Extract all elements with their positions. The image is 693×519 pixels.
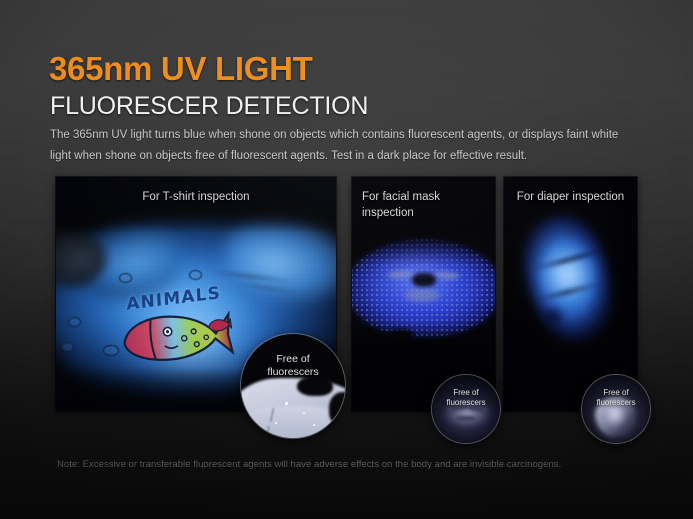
inset-label-line-1: Free of [241, 353, 345, 366]
tshirt-snap-button [189, 270, 202, 280]
inset-speck [303, 412, 305, 414]
footer-note: Note: Excessive or transferable fluoresc… [57, 459, 561, 470]
inset-free-of-fluorescers-mask: Free of fluorescers [432, 375, 500, 443]
inset-speck [285, 402, 288, 405]
panel-top-shade [56, 177, 336, 233]
inset-label-line-2: fluorescers [241, 366, 345, 379]
page-subtitle: FLUORESCER DETECTION [50, 92, 368, 121]
fish-graphic-icon [116, 304, 235, 368]
inset-dark-notch [297, 376, 333, 396]
tshirt-snap-button [119, 273, 132, 283]
tshirt-snap-button [103, 345, 119, 356]
tshirt-snap-button [61, 342, 74, 352]
inset-speck [313, 424, 315, 426]
tshirt-snap-button [68, 317, 81, 327]
uv-light-product-slide: 365nm UV LIGHT FLUORESCER DETECTION The … [0, 0, 693, 519]
inset-mask-fold [456, 416, 476, 421]
inset-free-of-fluorescers-tshirt: Free of fluorescers [241, 334, 345, 438]
page-title: 365nm UV LIGHT [49, 50, 313, 88]
inset-free-of-fluorescers-diaper: Free of fluorescers [582, 375, 650, 443]
inset-faint-white-glow [604, 403, 626, 427]
inset-speck [275, 422, 277, 424]
inset-label-tshirt: Free of fluorescers [241, 353, 345, 378]
small-fish-graphic-icon [207, 315, 233, 334]
inset-dark-notch [329, 392, 345, 426]
description-text: The 365nm UV light turns blue when shone… [50, 125, 630, 168]
